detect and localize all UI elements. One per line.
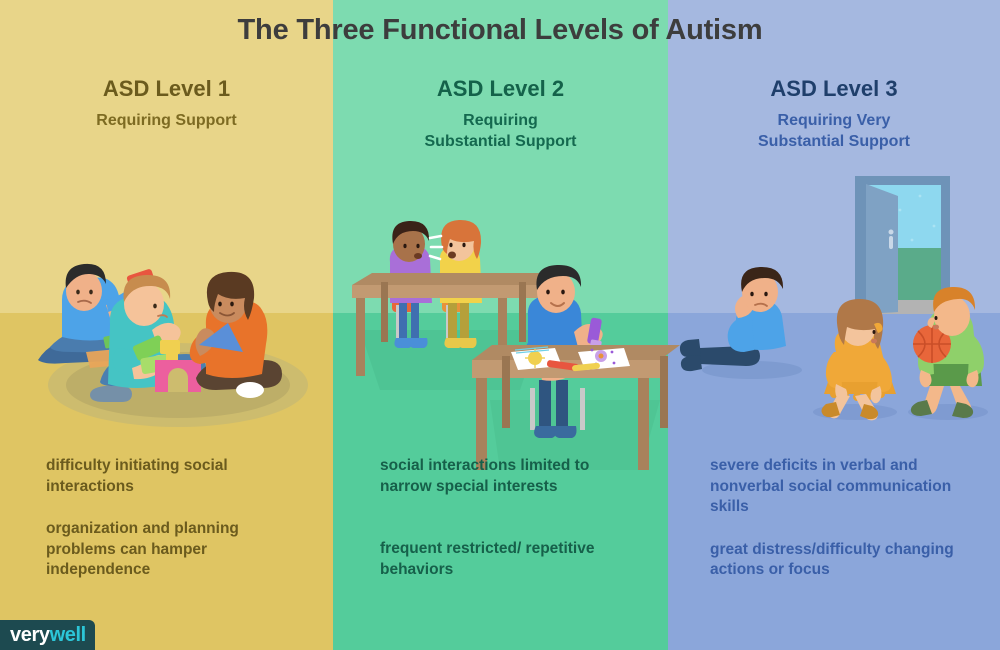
bullet-text: frequent restricted/ repetitive behavior…: [380, 539, 645, 580]
level-2-support-line-1: Requiring: [333, 110, 668, 131]
bullet-text: organization and planning problems can h…: [46, 519, 311, 581]
bullet-text: social interactions limited to narrow sp…: [380, 456, 645, 497]
bullets-level-1: difficulty initiating social interaction…: [46, 456, 311, 581]
bullet-text: difficulty initiating social interaction…: [46, 456, 311, 497]
heading-level-1: ASD Level 1 Requiring Support: [0, 76, 333, 131]
child-girl-walking: [813, 299, 897, 420]
level-3-support-line-1: Requiring Very: [668, 110, 1000, 131]
infographic-root: The Three Functional Levels of Autism AS…: [0, 0, 1000, 650]
bullets-level-3: severe deficits in verbal and nonverbal …: [710, 456, 980, 581]
bullets-level-2: social interactions limited to narrow sp…: [380, 456, 645, 580]
level-3-label: ASD Level 3: [668, 76, 1000, 102]
logo-text-well: well: [50, 625, 86, 645]
level-1-support-label: Requiring Support: [0, 110, 333, 131]
child-boy-sitting-on-floor: [680, 267, 802, 379]
level-2-support-label: Requiring Substantial Support: [333, 110, 668, 152]
level-3-support-line-2: Substantial Support: [668, 131, 1000, 152]
bullet-text: severe deficits in verbal and nonverbal …: [710, 456, 980, 518]
heading-level-2: ASD Level 2 Requiring Substantial Suppor…: [333, 76, 668, 152]
level-3-support-label: Requiring Very Substantial Support: [668, 110, 1000, 152]
level-1-label: ASD Level 1: [0, 76, 333, 102]
bullet-text: great distress/difficulty changing actio…: [710, 540, 980, 581]
level-2-support-line-2: Substantial Support: [333, 131, 668, 152]
verywell-logo[interactable]: verywell: [0, 620, 95, 650]
logo-text-very: very: [10, 625, 50, 645]
heading-level-3: ASD Level 3 Requiring Very Substantial S…: [668, 76, 1000, 152]
level-2-label: ASD Level 2: [333, 76, 668, 102]
page-title: The Three Functional Levels of Autism: [0, 14, 1000, 47]
